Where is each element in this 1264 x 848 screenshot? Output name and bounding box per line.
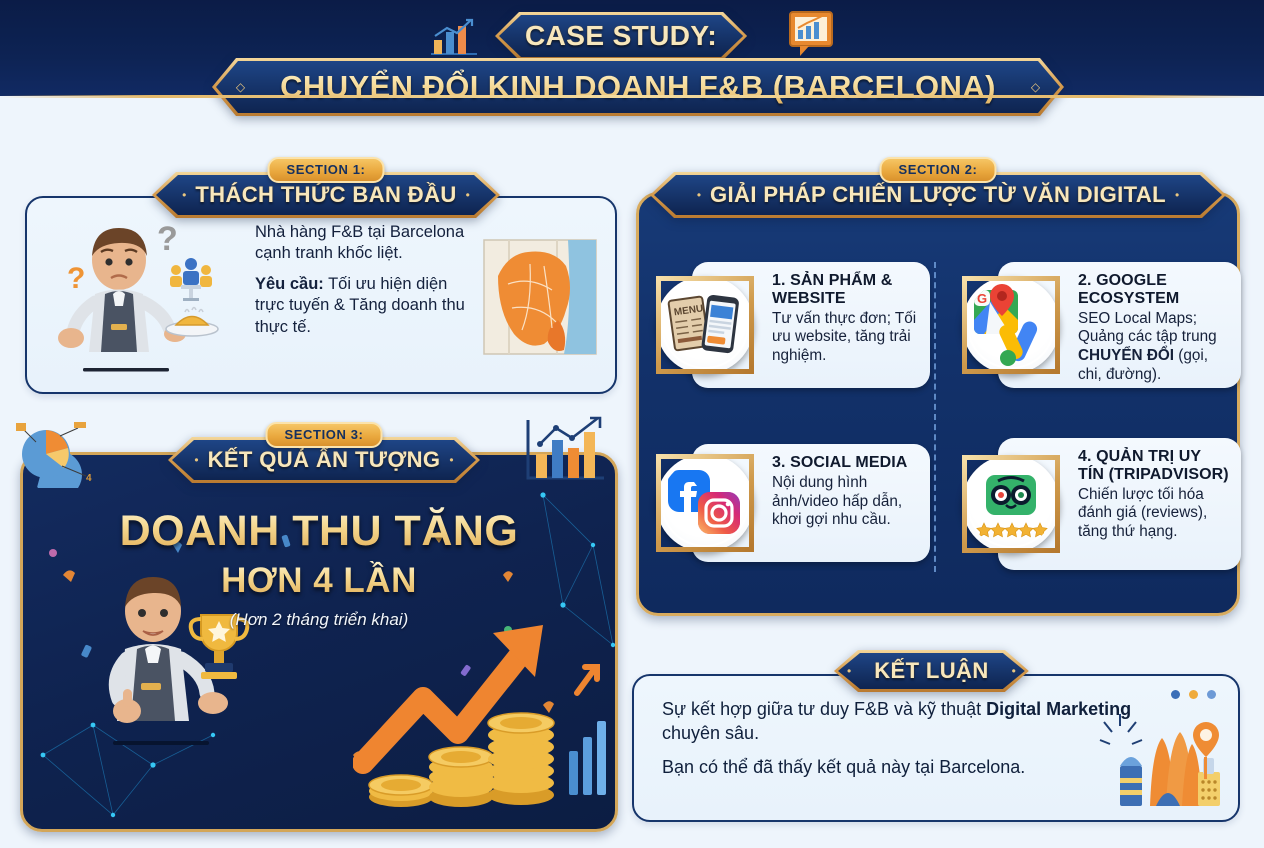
section2-title: GIẢI PHÁP CHIẾN LƯỢC TỪ VĂN DIGITAL — [710, 182, 1166, 208]
svg-text:4: 4 — [86, 473, 92, 484]
bar-chart-growth-icon — [425, 14, 485, 62]
section1-paragraph1: Nhà hàng F&B tại Barcelona cạnh tranh kh… — [255, 222, 473, 265]
tripadvisor-owl-icon — [962, 455, 1060, 553]
section3-panel: DOANH THU TĂNG HƠN 4 LẦN (Hơn 2 tháng tr… — [20, 452, 618, 832]
section1-right-ornament: • — [457, 189, 479, 201]
solution-card-1-title: 1. SẢN PHẨM & WEBSITE — [772, 272, 918, 308]
section3-badge: SECTION 3: — [266, 422, 383, 448]
svg-text:?: ? — [67, 262, 85, 295]
conclusion-line1-pre: Sự kết hợp giữa tư duy F&B và kỹ thuật — [662, 699, 986, 719]
case-study-label: CASE STUDY: — [499, 20, 743, 52]
solution-card-product-website[interactable]: MENU 1. SẢN PHẨM & WEBSITE Tư vấn thực đ… — [692, 262, 930, 388]
section1-paragraph2: Yêu cầu: Tối ưu hiện diện trực tuyến & T… — [255, 274, 473, 338]
section3-title: KẾT QUẢ ẤN TƯỢNG — [208, 447, 441, 473]
solution-card-2-title: 2. GOOGLE ECOSYSTEM — [1078, 272, 1229, 308]
conclusion-line2: Bạn có thể đã thấy kết quả này tại Barce… — [662, 756, 1132, 780]
left-dot-ornament: ◇ — [227, 81, 254, 93]
solution-card-2-body-bold: CHUYỂN ĐỔI — [1078, 347, 1174, 364]
solution-card-2-body: SEO Local Maps; Quảng các tập trung CHUY… — [1078, 310, 1229, 385]
dot-lightblue — [1207, 690, 1216, 699]
barcelona-map-illustration — [482, 236, 598, 358]
main-title: CHUYỂN ĐỔI KINH DOANH F&B (BARCELONA) — [254, 69, 1022, 105]
barcelona-skyline-icon — [1096, 710, 1224, 814]
section1-requirement-label: Yêu cầu: — [255, 275, 324, 293]
section2-column-divider — [934, 262, 936, 572]
section1-card: ? ? — [25, 196, 617, 394]
dot-blue — [1171, 690, 1180, 699]
facebook-instagram-icon — [656, 454, 754, 552]
pie-chart-icon: 4 — [2, 418, 110, 488]
top-banner: CASE STUDY: ◇ CHUYỂN ĐỔI KINH DOANH F&B … — [0, 0, 1264, 96]
conclusion-ribbon: • KẾT LUẬN • — [834, 650, 1029, 692]
menu-and-mobile-website-icon: MENU — [656, 276, 754, 374]
solution-card-1-body: Tư vấn thực đơn; Tối ưu website, tăng tr… — [772, 310, 918, 366]
section3-headline: DOANH THU TĂNG — [23, 507, 615, 556]
growth-arrow-coins-illustration — [353, 603, 613, 813]
section2-left-ornament: • — [688, 189, 710, 201]
solution-card-4-title: 4. QUẢN TRỊ UY TÍN (TRIPADVISOR) — [1078, 448, 1229, 484]
solution-card-social-media[interactable]: 3. SOCIAL MEDIA Nội dung hình ảnh/video … — [692, 444, 930, 562]
window-dots — [1171, 690, 1216, 699]
main-title-ribbon: ◇ CHUYỂN ĐỔI KINH DOANH F&B (BARCELONA) … — [212, 58, 1064, 116]
solution-card-3-title: 3. SOCIAL MEDIA — [772, 454, 918, 472]
conclusion-right-ornament: • — [1003, 665, 1025, 677]
section1-text: Nhà hàng F&B tại Barcelona cạnh tranh kh… — [255, 222, 473, 347]
solution-card-4-body: Chiến lược tối hóa đánh giá (reviews), t… — [1078, 486, 1229, 542]
section3-note: (Hơn 2 tháng triển khai) — [23, 610, 615, 630]
bar-chart-trend-icon — [516, 414, 612, 490]
solution-card-2-body-pre: SEO Local Maps; Quảng các tập trung — [1078, 310, 1217, 346]
conclusion-card: Sự kết hợp giữa tư duy F&B và kỹ thuật D… — [632, 674, 1240, 822]
solution-card-google-ecosystem[interactable]: G 2. GOOGLE ECOSYSTEM SEO Local Maps; Qu… — [998, 262, 1241, 388]
conclusion-left-ornament: • — [838, 665, 860, 677]
section3-right-ornament: • — [440, 454, 462, 466]
conclusion-line1-post: chuyên sâu. — [662, 723, 759, 743]
section3-subheadline: HƠN 4 LẦN — [23, 561, 615, 601]
section2-right-ornament: • — [1166, 189, 1188, 201]
section1-left-ornament: • — [173, 189, 195, 201]
presentation-chart-icon — [786, 10, 836, 62]
conclusion-line1: Sự kết hợp giữa tư duy F&B và kỹ thuật D… — [662, 698, 1132, 746]
dot-orange — [1189, 690, 1198, 699]
conclusion-title: KẾT LUẬN — [860, 658, 1002, 684]
section1-title: THÁCH THỨC BAN ĐẦU — [195, 182, 456, 208]
conclusion-text: Sự kết hợp giữa tư duy F&B và kỹ thuật D… — [662, 698, 1132, 789]
solution-card-reputation-tripadvisor[interactable]: 4. QUẢN TRỊ UY TÍN (TRIPADVISOR) Chiến l… — [998, 438, 1241, 570]
svg-text:G: G — [977, 291, 987, 306]
confused-waiter-illustration: ? ? — [45, 216, 241, 382]
section1-badge: SECTION 1: — [268, 157, 385, 183]
right-dot-ornament: ◇ — [1022, 81, 1049, 93]
section2-badge: SECTION 2: — [880, 157, 997, 183]
solution-card-3-body: Nội dung hình ảnh/video hấp dẫn, khơi gợ… — [772, 474, 918, 530]
case-study-ribbon: CASE STUDY: — [495, 12, 747, 60]
svg-text:?: ? — [157, 220, 178, 258]
google-maps-ads-icon: G — [962, 276, 1060, 374]
section3-left-ornament: • — [185, 454, 207, 466]
